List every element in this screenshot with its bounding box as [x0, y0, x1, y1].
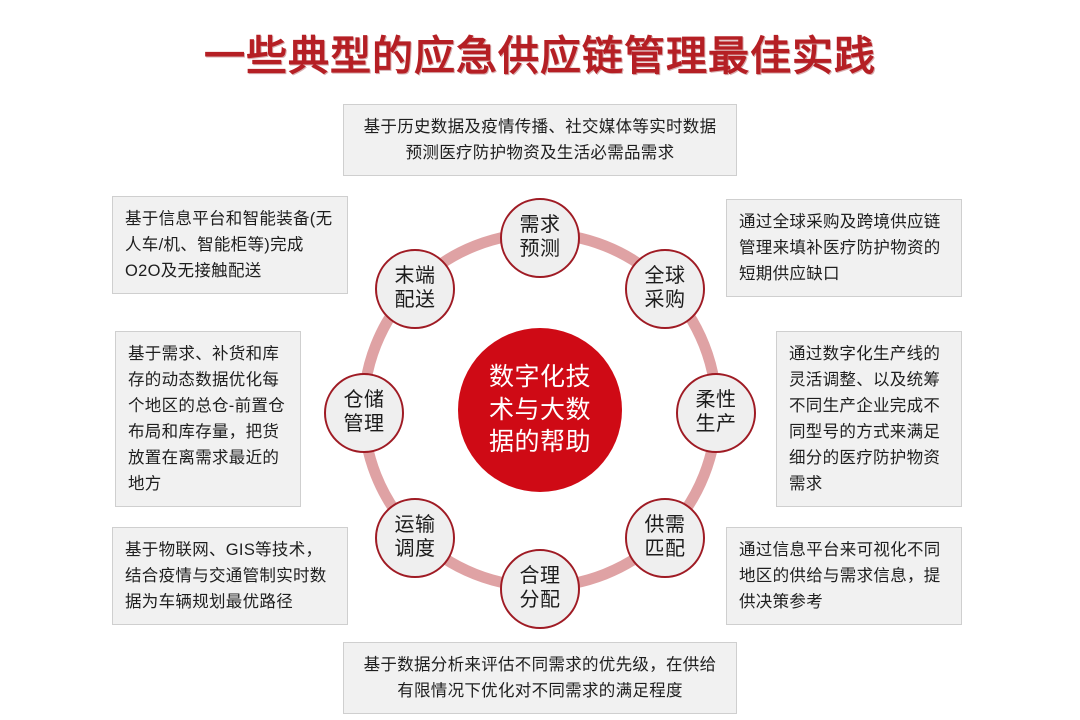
callout-supply-demand-match: 通过信息平台来可视化不同地区的供给与需求信息，提供决策参考	[726, 527, 962, 625]
callout-warehouse-management: 基于需求、补货和库存的动态数据优化每个地区的总仓-前置仓布局和库存量，把货放置在…	[115, 331, 301, 507]
node-rational-allocation[interactable]: 合理 分配	[500, 549, 580, 629]
node-label-line-2: 分配	[512, 589, 568, 613]
node-label-line-1: 末端	[387, 265, 443, 289]
center-hub: 数字化技 术与大数 据的帮助	[458, 328, 622, 492]
hub-line-2: 术与大数	[478, 394, 602, 427]
node-label-line-1: 柔性	[688, 389, 744, 413]
node-flexible-production[interactable]: 柔性 生产	[676, 373, 756, 453]
diagram-canvas: 一些典型的应急供应链管理最佳实践 数字化技 术与大数 据的帮助 需求 预测 全球…	[0, 0, 1080, 720]
node-label-line-1: 合理	[512, 565, 568, 589]
node-label-line-2: 管理	[336, 413, 392, 437]
node-demand-forecast[interactable]: 需求 预测	[500, 198, 580, 278]
node-label-line-1: 仓储	[336, 389, 392, 413]
hub-line-3: 据的帮助	[478, 426, 602, 459]
node-transport-dispatch[interactable]: 运输 调度	[375, 498, 455, 578]
node-label-line-1: 需求	[512, 214, 568, 238]
callout-global-sourcing: 通过全球采购及跨境供应链管理来填补医疗防护物资的短期供应缺口	[726, 199, 962, 297]
node-label-line-2: 预测	[512, 238, 568, 262]
node-label-line-1: 全球	[637, 265, 693, 289]
node-global-sourcing[interactable]: 全球 采购	[625, 249, 705, 329]
callout-flexible-production: 通过数字化生产线的灵活调整、以及统筹不同生产企业完成不同型号的方式来满足细分的医…	[776, 331, 962, 507]
callout-rational-allocation: 基于数据分析来评估不同需求的优先级，在供给有限情况下优化对不同需求的满足程度	[343, 642, 737, 714]
node-last-mile-delivery[interactable]: 末端 配送	[375, 249, 455, 329]
node-supply-demand-match[interactable]: 供需 匹配	[625, 498, 705, 578]
node-label-line-2: 配送	[387, 289, 443, 313]
callout-transport-dispatch: 基于物联网、GIS等技术，结合疫情与交通管制实时数据为车辆规划最优路径	[112, 527, 348, 625]
node-label-line-2: 生产	[688, 413, 744, 437]
page-title: 一些典型的应急供应链管理最佳实践	[0, 22, 1080, 82]
hub-line-1: 数字化技	[478, 361, 602, 394]
node-warehouse-management[interactable]: 仓储 管理	[324, 373, 404, 453]
callout-last-mile-delivery: 基于信息平台和智能装备(无人车/机、智能柜等)完成O2O及无接触配送	[112, 196, 348, 294]
node-label-line-1: 供需	[637, 514, 693, 538]
callout-demand-forecast: 基于历史数据及疫情传播、社交媒体等实时数据预测医疗防护物资及生活必需品需求	[343, 104, 737, 176]
node-label-line-1: 运输	[387, 514, 443, 538]
node-label-line-2: 调度	[387, 538, 443, 562]
node-label-line-2: 匹配	[637, 538, 693, 562]
node-label-line-2: 采购	[637, 289, 693, 313]
